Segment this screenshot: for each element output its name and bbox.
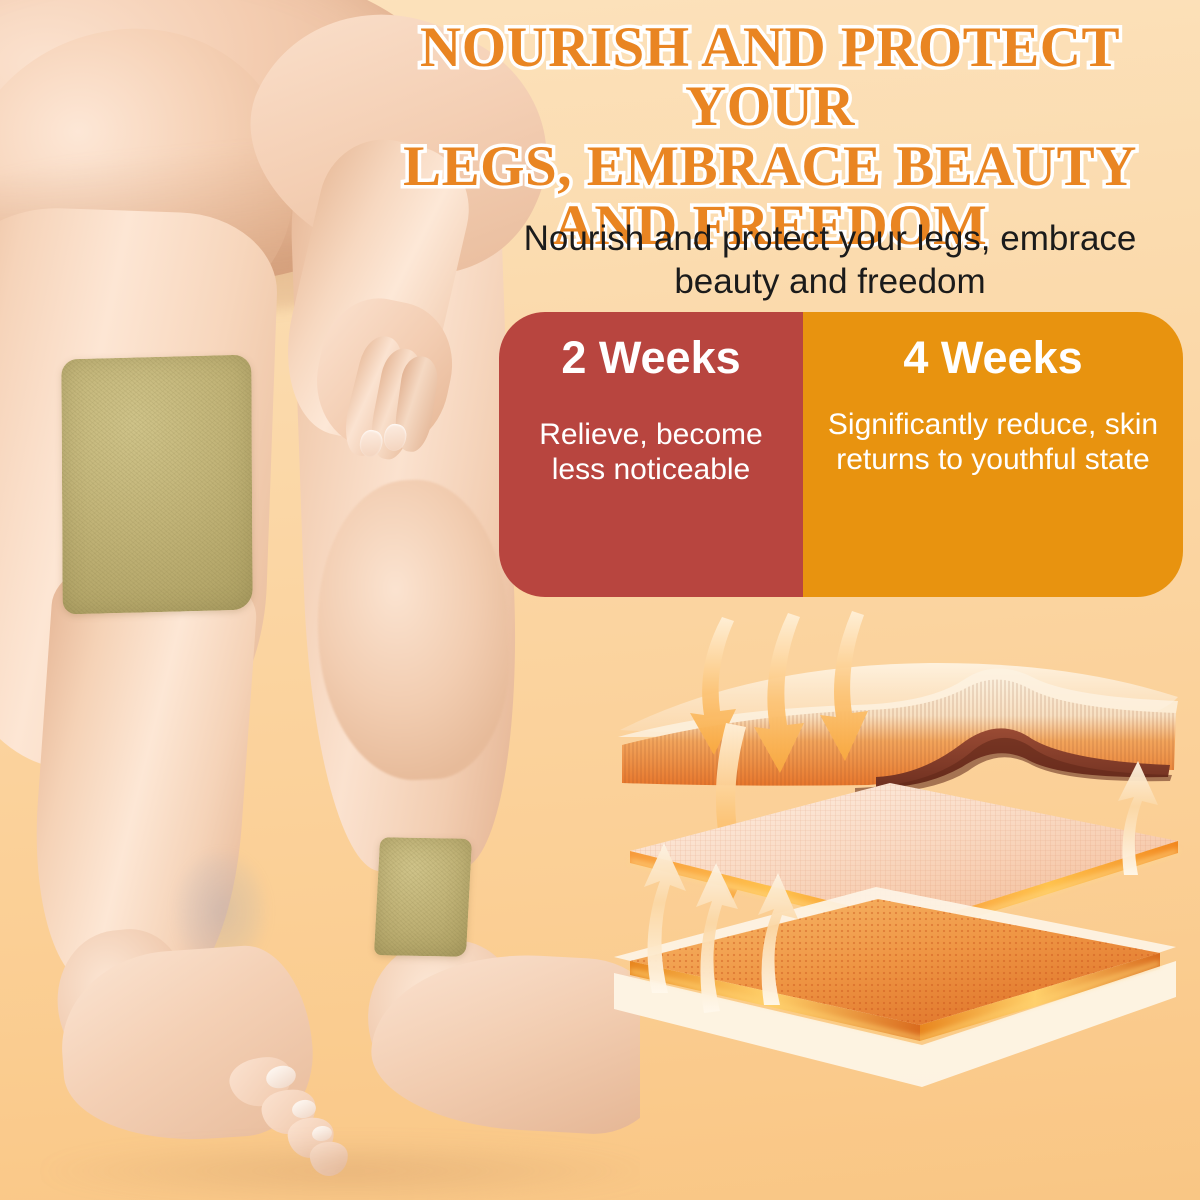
advertisement-canvas: NOURISH AND PROTECT YOUR LEGS, EMBRACE B…: [0, 0, 1200, 1200]
panel-title-2-weeks: 2 Weeks: [561, 334, 740, 381]
herbal-patch-ankle: [374, 837, 472, 957]
timeline-comparison-card: 2 Weeks Relieve, become less noticeable …: [499, 312, 1183, 597]
herbal-patch-thigh: [61, 354, 252, 614]
comparison-panel-2-weeks: 2 Weeks Relieve, become less noticeable: [499, 312, 803, 597]
ground-shadow: [40, 1140, 640, 1200]
panel-description-2-weeks: Relieve, become less noticeable: [515, 417, 787, 487]
comparison-panel-4-weeks: 4 Weeks Significantly reduce, skin retur…: [803, 312, 1183, 597]
subtitle: Nourish and protect your legs, embrace b…: [470, 218, 1190, 303]
panel-title-4-weeks: 4 Weeks: [903, 334, 1082, 381]
patch-layer-diagram: [600, 605, 1200, 1165]
diagram-layer-patch-base: [614, 887, 1176, 1087]
panel-description-4-weeks: Significantly reduce, skin returns to yo…: [819, 407, 1167, 477]
